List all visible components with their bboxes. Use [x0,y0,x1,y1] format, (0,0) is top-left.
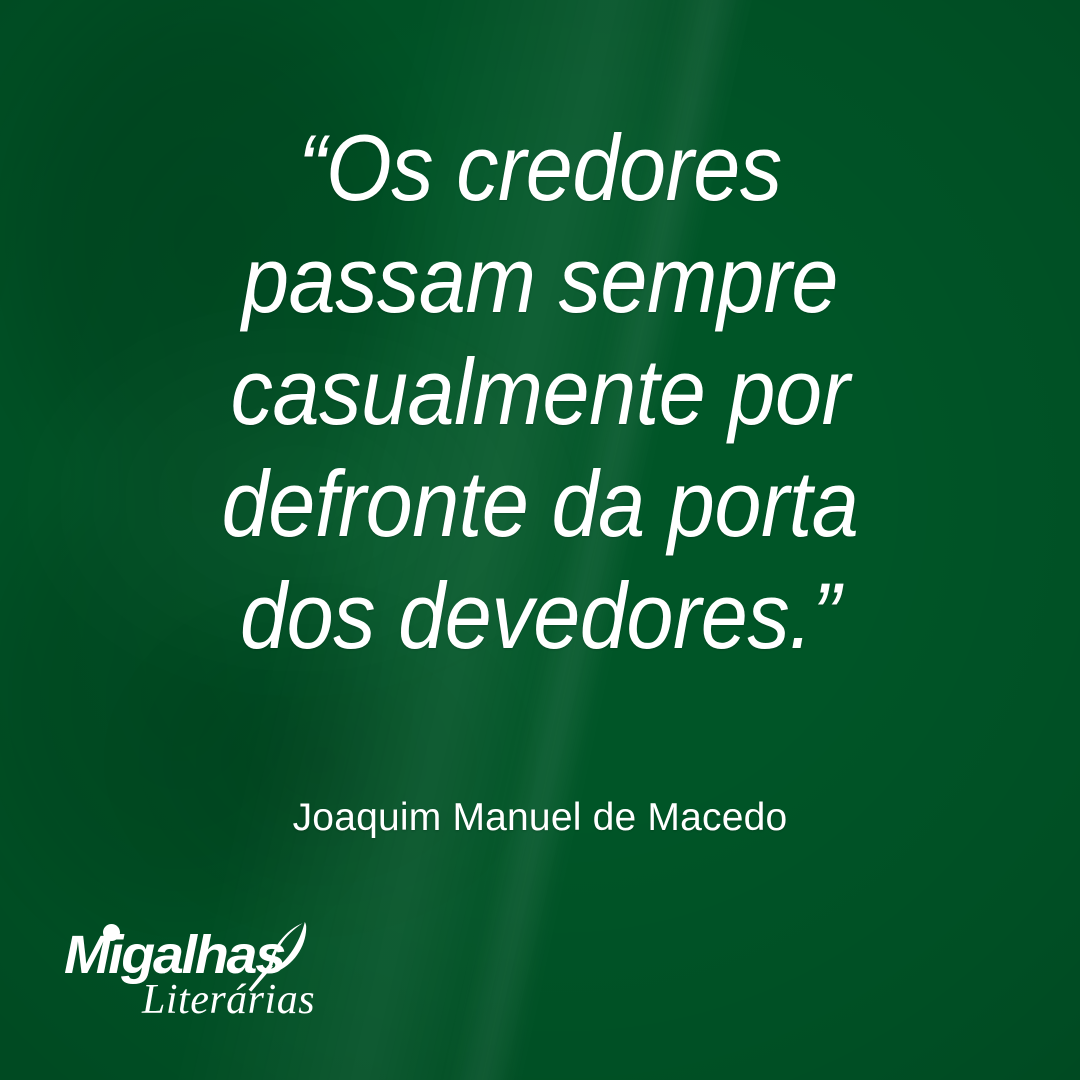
logo-subtitle-text: Literárias [142,976,315,1024]
quote-line-5: dos devedores.” [90,560,990,672]
quote-author: Joaquim Manuel de Macedo [0,796,1080,840]
quote-line-2: passam sempre [90,224,990,336]
card-content: “Os credores passam sempre casualmente p… [0,0,1080,1080]
quote-line-1: “Os credores [90,112,990,224]
i-dot-icon [103,924,120,941]
migalhas-literarias-logo: Migalhas Literárias [64,926,364,1022]
quote-line-3: casualmente por [90,336,990,448]
quote-text: “Os credores passam sempre casualmente p… [0,112,1080,672]
quote-card: “Os credores passam sempre casualmente p… [0,0,1080,1080]
quote-line-4: defronte da porta [90,448,990,560]
